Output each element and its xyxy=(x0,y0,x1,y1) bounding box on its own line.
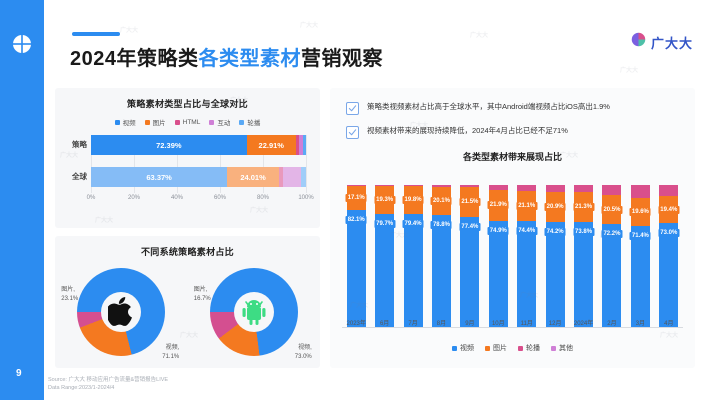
column-segment-轮播 xyxy=(631,185,650,198)
legend-item-视频: 视频 xyxy=(452,343,474,353)
column-segment-轮播 xyxy=(659,185,678,196)
legend-item-HTML: HTML xyxy=(175,117,201,127)
column-segment-轮播 xyxy=(574,185,593,192)
column-segment-轮播 xyxy=(602,185,621,195)
legend-swatch-icon xyxy=(175,120,180,125)
column-x-label: 8月 xyxy=(437,318,446,327)
image-value-label: 20.9% xyxy=(545,203,566,211)
column-x-label: 6月 xyxy=(380,318,389,327)
video-value-label: 74.9% xyxy=(488,227,509,235)
video-value-label: 78.8% xyxy=(431,221,452,229)
x-axis: 0%20%40%60%80%100% xyxy=(91,195,306,207)
image-value-label: 19.8% xyxy=(403,196,424,204)
page-title: 2024年策略类各类型素材营销观察 xyxy=(70,42,383,71)
image-value-label: 19.3% xyxy=(374,196,395,204)
stacked-bar-row[interactable]: 72.39%22.91% xyxy=(91,135,306,155)
legend-item-互动: 互动 xyxy=(209,117,230,127)
stacked-chart-legend: 视频图片HTML互动轮播 xyxy=(55,117,320,127)
page-number: 9 xyxy=(16,368,22,379)
bar-segment-视频: 63.37% xyxy=(91,167,227,187)
video-value-label: 79.4% xyxy=(403,220,424,228)
insight-text: 策略类视频素材占比高于全球水平，其中Android端视频占比iOS高出1.9% xyxy=(367,102,610,112)
column-segment-图片: 20.5% xyxy=(602,195,621,224)
image-value-label: 19.6% xyxy=(630,208,651,216)
video-value-label: 73.8% xyxy=(573,228,594,236)
title-prefix: 2024年策略类 xyxy=(70,48,199,70)
stacked-bar-panel: 策略素材类型占比与全球对比 视频图片HTML互动轮播 策略72.39%22.91… xyxy=(55,88,320,228)
legend-swatch-icon xyxy=(485,346,490,351)
column-segment-图片: 19.6% xyxy=(631,198,650,226)
footer-source: Source: 广大大 移动应用广告流量&营销报告LIVE xyxy=(48,376,168,384)
column-segment-视频: 73.8% xyxy=(574,222,593,327)
stacked-chart-title: 策略素材类型占比与全球对比 xyxy=(55,88,320,110)
watermark: 广大大 xyxy=(120,25,138,34)
video-value-label: 82.1% xyxy=(346,216,367,224)
x-tick-label: 40% xyxy=(171,195,183,201)
donut-chart-title: 不同系统策略素材占比 xyxy=(55,236,320,258)
column-9月[interactable]: 21.5%77.4%9月 xyxy=(460,185,479,327)
column-segment-图片: 21.1% xyxy=(517,191,536,221)
column-2024年[interactable]: 21.3%73.8%2024年 xyxy=(574,185,593,327)
column-segment-视频: 71.4% xyxy=(631,226,650,327)
legend-swatch-icon xyxy=(209,120,214,125)
column-segment-视频: 78.8% xyxy=(432,215,451,327)
column-x-label: 10月 xyxy=(492,318,505,327)
legend-item-图片: 图片 xyxy=(485,343,507,353)
image-value-label: 19.4% xyxy=(658,206,679,214)
title-accent-bar xyxy=(72,32,120,36)
watermark: 广大大 xyxy=(620,65,638,74)
video-value-label: 74.2% xyxy=(545,228,566,236)
video-value-label: 73.0% xyxy=(658,229,679,237)
column-segment-视频: 77.4% xyxy=(460,217,479,327)
legend-label: 轮播 xyxy=(526,343,540,353)
column-segment-图片: 21.9% xyxy=(489,190,508,221)
check-icon[interactable] xyxy=(346,102,359,115)
column-segment-视频: 74.4% xyxy=(517,221,536,327)
column-x-label: 2月 xyxy=(607,318,616,327)
donut-label-视频: 视频,73.0% xyxy=(295,344,312,362)
column-chart-legend: 视频图片轮播其他 xyxy=(330,343,695,353)
donut-group: 视频,71.1%图片,23.1%视频,73.0%图片,16.7% xyxy=(55,262,320,366)
donut-iOS[interactable]: 视频,71.1%图片,23.1% xyxy=(69,262,173,366)
column-x-label: 7月 xyxy=(408,318,417,327)
legend-item-轮播: 轮播 xyxy=(239,117,260,127)
column-x-label: 11月 xyxy=(521,318,533,327)
column-segment-图片: 17.1% xyxy=(347,186,366,210)
footer-range: Data Range:2023/1-2024/4 xyxy=(48,384,168,392)
column-11月[interactable]: 21.1%74.4%11月 xyxy=(517,185,536,327)
column-x-label: 9月 xyxy=(465,318,474,327)
insight-row[interactable]: 策略类视频素材占比高于全球水平，其中Android端视频占比iOS高出1.9% xyxy=(346,102,681,115)
column-segment-图片: 21.3% xyxy=(574,192,593,222)
donut-panel: 不同系统策略素材占比 视频,71.1%图片,23.1%视频,73.0%图片,16… xyxy=(55,236,320,368)
pie-logo-icon xyxy=(631,32,646,52)
column-3月[interactable]: 19.6%71.4%3月 xyxy=(631,185,650,327)
insight-text: 视频素材带来的展现持续降低，2024年4月占比已经不足71% xyxy=(367,126,568,136)
stacked-bar-row[interactable]: 63.37%24.01% xyxy=(91,167,306,187)
legend-item-视频: 视频 xyxy=(115,117,136,127)
title-suffix: 营销观察 xyxy=(301,48,383,70)
column-6月[interactable]: 19.3%79.7%6月 xyxy=(375,185,394,327)
donut-label-视频: 视频,71.1% xyxy=(162,344,179,362)
bar-segment-图片: 22.91% xyxy=(247,135,296,155)
column-segment-图片: 19.8% xyxy=(404,186,423,214)
left-rail: 9 xyxy=(0,0,44,400)
legend-item-轮播: 轮播 xyxy=(518,343,540,353)
grid-line xyxy=(306,135,307,193)
bar-segment-图片: 24.01% xyxy=(227,167,279,187)
column-10月[interactable]: 21.9%74.9%10月 xyxy=(489,185,508,327)
image-value-label: 21.1% xyxy=(516,202,537,210)
column-x-label: 4月 xyxy=(664,318,673,327)
column-12月[interactable]: 20.9%74.2%12月 xyxy=(546,185,565,327)
legend-item-图片: 图片 xyxy=(145,117,166,127)
check-icon[interactable] xyxy=(346,126,359,139)
android-icon xyxy=(210,268,298,356)
legend-label: 图片 xyxy=(153,117,166,127)
column-chart-axis xyxy=(342,327,683,328)
image-value-label: 20.1% xyxy=(431,197,452,205)
stacked-bar-plot: 策略72.39%22.91%全球63.37%24.01%0%20%40%60%8… xyxy=(91,135,306,207)
image-value-label: 17.1% xyxy=(346,194,367,202)
donut-label-图片: 图片,23.1% xyxy=(61,286,78,304)
legend-label: 视频 xyxy=(460,343,474,353)
legend-swatch-icon xyxy=(115,120,120,125)
x-tick-label: 20% xyxy=(128,195,140,201)
legend-item-其他: 其他 xyxy=(551,343,573,353)
x-tick-label: 100% xyxy=(298,195,313,201)
brand-logo: 广大大 xyxy=(631,32,693,52)
legend-swatch-icon xyxy=(551,346,556,351)
column-2023年[interactable]: 17.1%82.1%2023年 xyxy=(347,185,366,327)
column-segment-视频: 82.1% xyxy=(347,210,366,327)
video-value-label: 72.2% xyxy=(601,230,622,238)
column-7月[interactable]: 19.8%79.4%7月 xyxy=(404,185,423,327)
x-tick-label: 0% xyxy=(87,195,96,201)
column-x-label: 2024年 xyxy=(574,318,593,327)
video-value-label: 79.7% xyxy=(374,220,395,228)
bar-row-label: 全球 xyxy=(57,167,87,187)
image-value-label: 21.5% xyxy=(459,198,480,206)
image-value-label: 21.9% xyxy=(488,201,509,209)
column-chart-plot: 17.1%82.1%2023年19.3%79.7%6月19.8%79.4%7月2… xyxy=(342,173,683,341)
x-tick-label: 60% xyxy=(214,195,226,201)
donut-label-图片: 图片,16.7% xyxy=(194,286,211,304)
legend-label: 互动 xyxy=(217,117,230,127)
legend-label: 轮播 xyxy=(247,117,260,127)
video-value-label: 71.4% xyxy=(630,232,651,240)
legend-swatch-icon xyxy=(145,120,150,125)
bar-row-label: 策略 xyxy=(57,135,87,155)
image-value-label: 21.3% xyxy=(573,203,594,211)
apple-icon xyxy=(77,268,165,356)
insight-list: 策略类视频素材占比高于全球水平，其中Android端视频占比iOS高出1.9%视… xyxy=(330,88,695,139)
legend-swatch-icon xyxy=(239,120,244,125)
column-x-label: 12月 xyxy=(549,318,562,327)
legend-label: 图片 xyxy=(493,343,507,353)
column-segment-图片: 21.5% xyxy=(460,187,479,218)
column-8月[interactable]: 20.1%78.8%8月 xyxy=(432,185,451,327)
brand-name: 广大大 xyxy=(651,33,693,52)
column-4月[interactable]: 19.4%73.0%4月 xyxy=(659,185,678,327)
column-x-label: 2023年 xyxy=(347,318,366,327)
column-chart-title: 各类型素材带来展现占比 xyxy=(330,150,695,163)
watermark: 广大大 xyxy=(470,30,488,39)
bar-segment-轮播 xyxy=(303,135,306,155)
donut-Android[interactable]: 视频,73.0%图片,16.7% xyxy=(202,262,306,366)
column-segment-图片: 20.1% xyxy=(432,187,451,216)
column-segment-图片: 19.3% xyxy=(375,186,394,213)
insight-row[interactable]: 视频素材带来的展现持续降低，2024年4月占比已经不足71% xyxy=(346,126,681,139)
legend-swatch-icon xyxy=(452,346,457,351)
bar-segment-视频: 72.39% xyxy=(91,135,247,155)
column-segment-轮播 xyxy=(546,185,565,192)
column-segment-视频: 73.0% xyxy=(659,223,678,327)
video-value-label: 74.4% xyxy=(516,227,537,235)
column-2月[interactable]: 20.5%72.2%2月 xyxy=(602,185,621,327)
footer: Source: 广大大 移动应用广告流量&营销报告LIVE Data Range… xyxy=(48,376,168,393)
watermark: 广大大 xyxy=(300,20,318,29)
video-value-label: 77.4% xyxy=(459,223,480,231)
title-highlight: 各类型素材 xyxy=(199,48,302,70)
column-x-label: 3月 xyxy=(636,318,645,327)
legend-label: HTML xyxy=(183,119,201,126)
right-panel: 策略类视频素材占比高于全球水平，其中Android端视频占比iOS高出1.9%视… xyxy=(330,88,695,368)
column-segment-视频: 74.2% xyxy=(546,222,565,327)
column-segment-图片: 20.9% xyxy=(546,192,565,222)
legend-swatch-icon xyxy=(518,346,523,351)
column-segment-视频: 79.4% xyxy=(404,214,423,327)
column-segment-视频: 74.9% xyxy=(489,221,508,327)
app-mark-icon xyxy=(12,34,32,54)
image-value-label: 20.5% xyxy=(601,206,622,214)
column-segment-视频: 72.2% xyxy=(602,224,621,327)
legend-label: 其他 xyxy=(559,343,573,353)
bar-segment-轮播 xyxy=(301,167,306,187)
x-tick-label: 80% xyxy=(257,195,269,201)
bar-segment-互动 xyxy=(283,167,301,187)
column-segment-图片: 19.4% xyxy=(659,196,678,224)
column-segment-视频: 79.7% xyxy=(375,214,394,327)
legend-label: 视频 xyxy=(123,117,136,127)
